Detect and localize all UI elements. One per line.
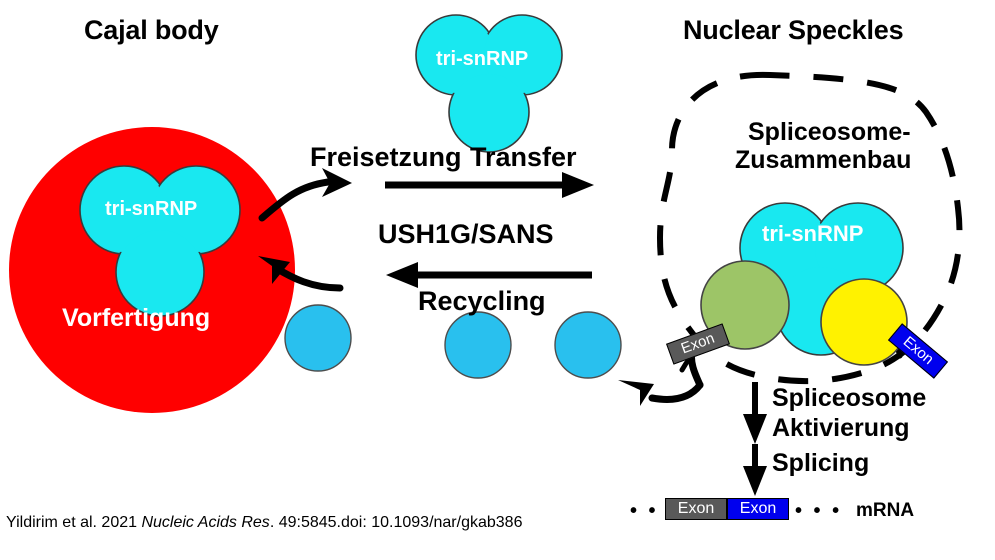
transfer-arrow: [385, 172, 594, 198]
spliceosome-activation-label-line1: Spliceosome: [772, 385, 926, 412]
mrna-exon-box-right: Exon: [727, 498, 789, 520]
cajal-trisnrnp-label: tri-snRNP: [105, 199, 197, 221]
yellow-splicing-particle: [821, 279, 907, 365]
figure-canvas: Cajal body Nuclear Speckles tri-snRNP Vo…: [0, 0, 995, 560]
activation-down-arrow: [743, 382, 767, 444]
ush1g-sans-label: USH1G/SANS: [378, 220, 554, 249]
release-curved-arrow: [262, 168, 352, 218]
spliceosome-activation-label-line2: Aktivierung: [772, 415, 910, 442]
free-trisnrnp-shape: [416, 15, 562, 152]
spliceosome-assembly-label-line1: Spliceosome-: [748, 119, 911, 146]
splicing-label: Splicing: [772, 450, 869, 477]
vorfertigung-label: Vorfertigung: [62, 305, 210, 332]
citation: Yildirim et al. 2021 Nucleic Acids Res. …: [6, 514, 522, 532]
recycling-arrow: [386, 262, 592, 288]
citation-journal: Nucleic Acids Res: [141, 514, 269, 531]
nuclear-speckles-title: Nuclear Speckles: [683, 16, 903, 45]
mrna-right-dots: • • •: [795, 500, 842, 523]
spliceosome-assembly-label-line2: Zusammenbau: [735, 147, 911, 174]
splicing-down-arrow: [743, 444, 767, 496]
recycling-label: Recycling: [418, 287, 546, 316]
citation-locator: . 49:5845.doi: 10.1093/nar/gkab386: [270, 514, 523, 531]
mrna-product-label: mRNA: [856, 500, 914, 522]
free-snrnp-particle-3: [555, 312, 621, 378]
free-trisnrnp-label: tri-snRNP: [436, 49, 528, 71]
freisetzung-label: Freisetzung: [310, 143, 462, 172]
cajal-body-title: Cajal body: [84, 16, 219, 45]
citation-authors-year: Yildirim et al. 2021: [6, 514, 141, 531]
speckle-trisnrnp-label: tri-snRNP: [762, 222, 863, 246]
free-snrnp-particle-1: [285, 305, 351, 371]
transfer-label: Transfer: [470, 143, 577, 172]
mrna-exon-box-left: Exon: [665, 498, 727, 520]
free-snrnp-particle-2: [445, 312, 511, 378]
